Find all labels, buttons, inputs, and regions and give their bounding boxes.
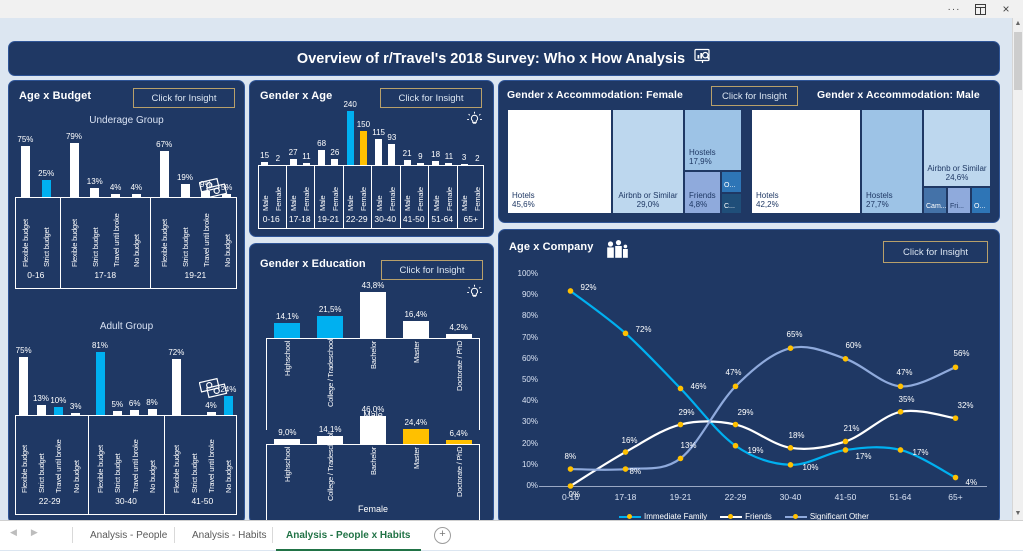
data-point-label: 47% [726,368,742,377]
category-label: Flexible budget [160,199,169,267]
treemap-tile[interactable]: Hostels17,9% [684,109,742,171]
bar-value-label: 43,8% [351,281,395,290]
group-label: 17-18 [287,214,314,224]
data-point-label: 16% [622,436,638,445]
data-point-label: 18% [789,431,805,440]
category-label: Female [274,167,283,211]
excel-dashboard: ··· × Overview of r/Travel's 2018 Survey… [0,0,1023,549]
category-label: No budget [132,199,141,267]
bar-value-label: 25% [28,169,64,178]
bar [71,413,80,415]
category-label: No budget [148,417,157,493]
y-axis-tick: 100% [512,269,538,278]
treemap-tile[interactable]: Airbnb or Similar24,6% [923,109,991,187]
x-axis-tick: 65+ [929,492,983,502]
x-axis-tick: 41-50 [819,492,873,502]
bar-value-label: 81% [82,341,118,350]
treemap-tile-label: Hotels45,6% [512,192,535,210]
y-axis-tick: 10% [512,460,538,469]
bar [331,159,338,165]
treemap-tile-label: Hostels17,9% [689,149,716,167]
category-label: Flexible budget [21,199,30,267]
data-point-label: 65% [787,330,803,339]
bar [461,164,468,165]
bar [446,334,472,338]
category-label: No budget [223,199,232,267]
data-point-label: 29% [738,408,754,417]
bar [37,405,46,415]
bar-value-label: 75% [7,135,43,144]
bar [113,411,122,415]
category-label: No budget [72,417,81,493]
bar [404,160,411,165]
y-axis-tick: 80% [512,311,538,320]
bar [274,439,300,444]
group-label: 65+ [458,214,485,224]
insight-button-gender-education[interactable]: Click for Insight [381,260,483,280]
bar [42,180,51,197]
people-icon [604,238,630,267]
bar [19,357,28,416]
category-label: Highschool [283,341,292,407]
worksheet-canvas: Overview of r/Travel's 2018 Survey: Who … [0,18,1023,520]
bar [70,143,79,197]
bar [303,163,310,165]
bar [274,323,300,338]
panel-age-budget: Age x Budget Click for Insight Underage … [8,80,245,524]
category-label: Strict budget [37,417,46,493]
bar [360,416,386,444]
category-label: Master [412,447,421,501]
category-label: Flexible budget [172,417,181,493]
close-icon[interactable]: × [993,0,1019,18]
group-label: 19-21 [154,270,237,280]
data-point-label: 72% [636,325,652,334]
window-title-bar: ··· × [0,0,1023,18]
bar [432,161,439,165]
x-axis-tick: 19-21 [654,492,708,502]
category-label: No budget [224,417,233,493]
panel-title-accommodation-male: Gender x Accommodation: Male [817,89,980,101]
y-axis-tick: 90% [512,290,538,299]
data-point-label: 60% [846,341,862,350]
sheet-nav-next[interactable]: ▶ [31,527,38,538]
category-label: Strict budget [190,417,199,493]
bar-value-label: 8% [134,398,170,407]
category-label: Male [318,167,327,211]
bar [148,409,157,415]
group-separator [60,197,61,289]
x-axis-tick: 17-18 [599,492,653,502]
panel-gender-education: Gender x Education Click for Insight 14,… [249,243,494,524]
y-axis-tick: 70% [512,333,538,342]
category-label: College / Tradeschool [326,447,335,501]
category-label: Flexible budget [20,417,29,493]
group-label: 30-40 [372,214,399,224]
treemap-tile-label: O... [974,203,985,211]
bar [403,321,429,338]
bar [111,194,120,197]
treemap-tile-label: Airbnb or Similar29,0% [613,192,683,210]
restore-window-icon[interactable] [967,0,993,18]
sheet-tab-analysis-habits[interactable]: Analysis - Habits [182,522,276,549]
scrollbar-thumb[interactable] [1014,32,1022,90]
category-label: Male [346,167,355,211]
bar [207,412,216,415]
treemap-tile[interactable]: Cam... [923,187,947,214]
category-label: Strict budget [42,199,51,267]
category-label: Travel until broke [202,199,211,267]
data-point-label: 92% [581,283,597,292]
category-label: Highschool [283,447,292,501]
group-label: 22-29 [15,496,84,506]
treemap-tile[interactable]: Hotels45,6% [507,109,612,214]
group-label: 51-64 [429,214,456,224]
data-point-label: 17% [856,452,872,461]
bar-value-label: 24% [210,385,246,394]
sheet-nav-arrows[interactable]: ◀ ▶ [10,527,38,538]
treemap-tile[interactable]: O... [721,171,742,193]
sheet-nav-prev[interactable]: ◀ [10,527,17,538]
category-label: Strict budget [113,417,122,493]
data-point-label: 17% [913,448,929,457]
x-axis-line [539,486,987,487]
category-label: Female [473,167,482,211]
bar [224,396,233,415]
treemap-tile-label: Friends4,8% [689,192,716,210]
data-point-label: 19% [748,446,764,455]
group-label: 0-16 [258,214,285,224]
treemap-tile[interactable]: Airbnb or Similar29,0% [612,109,684,214]
treemap-tile-label: C... [724,203,735,211]
category-label: College / Tradeschool [326,341,335,407]
group-label: 22-29 [344,214,371,224]
bar [403,429,429,444]
x-axis-tick: 51-64 [874,492,928,502]
treemap-tile-label: Hotels42,2% [756,192,779,210]
subtitle-underage-group: Underage Group [9,115,244,126]
treemap-tile[interactable]: Hotels42,2% [751,109,861,214]
bar-value-label: 4,2% [437,323,481,332]
y-axis-tick: 30% [512,417,538,426]
sheet-tab-analysis-people[interactable]: Analysis - People [80,522,177,549]
data-point-label: 29% [679,408,695,417]
data-point-label: 13% [681,441,697,450]
category-label: Travel until broke [131,417,140,493]
lightbulb-icon-gender-age [466,111,483,133]
data-point-label: 8% [565,452,577,461]
data-point-label: 10% [803,463,819,472]
treemap-tile-label: Fri... [950,203,964,211]
scroll-up-arrow[interactable]: ▲ [1013,18,1023,30]
vertical-scrollbar[interactable]: ▲ ▼ [1012,18,1023,520]
dashboard-header: Overview of r/Travel's 2018 Survey: Who … [8,41,1000,76]
panel-title-gender-education: Gender x Education [260,258,366,270]
bar [446,440,472,444]
data-point-label: 21% [844,424,860,433]
group-label: 19-21 [315,214,342,224]
treemap-tile-label: Airbnb or Similar24,6% [924,165,990,183]
data-point-label: 46% [691,382,707,391]
x-axis-tick: 22-29 [709,492,763,502]
panel-title-accommodation-female: Gender x Accommodation: Female [507,89,683,101]
data-point-label: 56% [954,349,970,358]
data-point-label: 32% [958,401,974,410]
category-label: Male [375,167,384,211]
treemap-accommodation-female: Hotels45,6%Airbnb or Similar29,0%Hostels… [507,109,742,214]
treemap-accommodation-male: Hotels42,2%Hostels27,7%Airbnb or Similar… [751,109,991,214]
y-axis-tick: 60% [512,354,538,363]
y-axis-tick: 40% [512,396,538,405]
bar-value-label: 3% [58,402,94,411]
group-separator [150,197,151,289]
bar-value-label: 21,5% [308,305,352,314]
category-label: Female [302,167,311,211]
category-label: Female [331,167,340,211]
sheet-tab-bar: ◀ ▶ Analysis - People Analysis - Habits … [0,520,1023,550]
y-axis-tick: 20% [512,439,538,448]
treemap-tile-label: Hostels27,7% [866,192,893,210]
bar [347,111,354,165]
treemap-tile-label: O... [724,182,735,190]
y-axis-tick: 50% [512,375,538,384]
bar [360,292,386,338]
category-label: Male [261,167,270,211]
group-label: 41-50 [401,214,428,224]
panel-age-company: Age x Company Click for Insight 100%90%8… [498,229,1000,524]
bar [130,410,139,415]
treemap-tile[interactable]: Friends4,8% [684,171,721,214]
insight-button-age-budget[interactable]: Click for Insight [133,88,235,108]
data-point-label: 0% [569,490,581,499]
category-label: Bachelor [369,447,378,501]
bar [417,163,424,165]
group-separator [88,415,89,515]
series-group-label: Female [266,504,480,514]
group-label: 0-16 [15,270,57,280]
subtitle-adult-group: Adult Group [9,321,244,332]
bar-value-label: 46,0% [351,405,395,414]
category-label: Female [445,167,454,211]
category-label: Flexible budget [96,417,105,493]
bar-value-label: 6,4% [437,429,481,438]
bar-value-label: 24,4% [394,418,438,427]
line-series-paths [499,230,999,523]
treemap-tile[interactable]: O... [971,187,991,214]
bar-value-label: 79% [56,132,92,141]
treemap-tile[interactable]: C... [721,193,742,214]
group-separator [164,415,165,515]
bar-value-label: 5% [209,183,245,192]
group-label: 41-50 [168,496,237,506]
data-point-label: 4% [966,478,978,487]
bar-value-label: 16,4% [394,310,438,319]
page-title: Overview of r/Travel's 2018 Survey: Who … [297,51,685,67]
bar [222,194,231,197]
bar-value-label: 67% [146,140,182,149]
insight-button-age-company[interactable]: Click for Insight [883,241,988,263]
sheet-tab-analysis-people-x-habits[interactable]: Analysis - People x Habits [276,522,421,551]
add-sheet-button[interactable]: + [434,527,451,544]
y-axis-tick: 0% [512,481,538,490]
category-label: Doctorate / PhD [455,447,464,501]
treemap-tile[interactable]: Fri... [947,187,971,214]
category-label: Female [359,167,368,211]
data-point-label: 35% [899,395,915,404]
bar-value-label: 75% [6,346,42,355]
category-label: Strict budget [181,199,190,267]
treemap-tile[interactable]: Hostels27,7% [861,109,923,214]
panel-title-gender-age: Gender x Age [260,90,332,102]
more-options-icon[interactable]: ··· [941,0,967,18]
bar [201,191,210,197]
category-label: Master [412,341,421,407]
panel-title-age-company: Age x Company [509,241,593,253]
category-label: Bachelor [369,341,378,407]
group-label: 30-40 [91,496,160,506]
bar-value-label: 4% [118,183,154,192]
bar-value-label: 240 [332,100,368,109]
data-point-label: 47% [897,368,913,377]
bar-value-label: 9,0% [265,428,309,437]
page-title-row: Overview of r/Travel's 2018 Survey: Who … [9,42,999,75]
category-label: Travel until broke [112,199,121,267]
data-point-label: 8% [630,467,642,476]
bar [317,316,343,338]
bar [445,163,452,165]
lightbulb-icon-gender-education [466,284,483,306]
category-label: Male [460,167,469,211]
bar-value-label: 2 [459,154,495,163]
category-label: Male [432,167,441,211]
bar-value-label: 93 [374,133,410,142]
panel-gender-accommodation: Gender x Accommodation: Female Click for… [498,80,1000,223]
treemap-tile-label: Cam... [926,203,947,211]
bar-value-label: 14,1% [265,312,309,321]
category-label: Strict budget [91,199,100,267]
insight-button-accommodation[interactable]: Click for Insight [711,86,798,106]
bar-value-label: 68 [304,139,340,148]
category-label: Female [416,167,425,211]
bar [172,359,181,415]
category-label: Female [388,167,397,211]
category-label: Male [403,167,412,211]
panel-title-age-budget: Age x Budget [19,90,91,102]
bar-value-label: 72% [158,348,194,357]
panel-gender-age: Gender x Age Click for Insight 15Male2Fe… [249,80,494,237]
group-label: 17-18 [64,270,147,280]
category-label: Male [289,167,298,211]
category-label: Travel until broke [54,417,63,493]
x-axis-tick: 30-40 [764,492,818,502]
category-label: Flexible budget [70,199,79,267]
category-label: Doctorate / PhD [455,341,464,407]
category-label: Travel until broke [207,417,216,493]
insight-button-gender-age[interactable]: Click for Insight [380,88,482,108]
bar [375,139,382,165]
presentation-chart-icon [694,48,711,69]
bar [132,194,141,197]
scroll-down-arrow[interactable]: ▼ [1013,508,1023,520]
